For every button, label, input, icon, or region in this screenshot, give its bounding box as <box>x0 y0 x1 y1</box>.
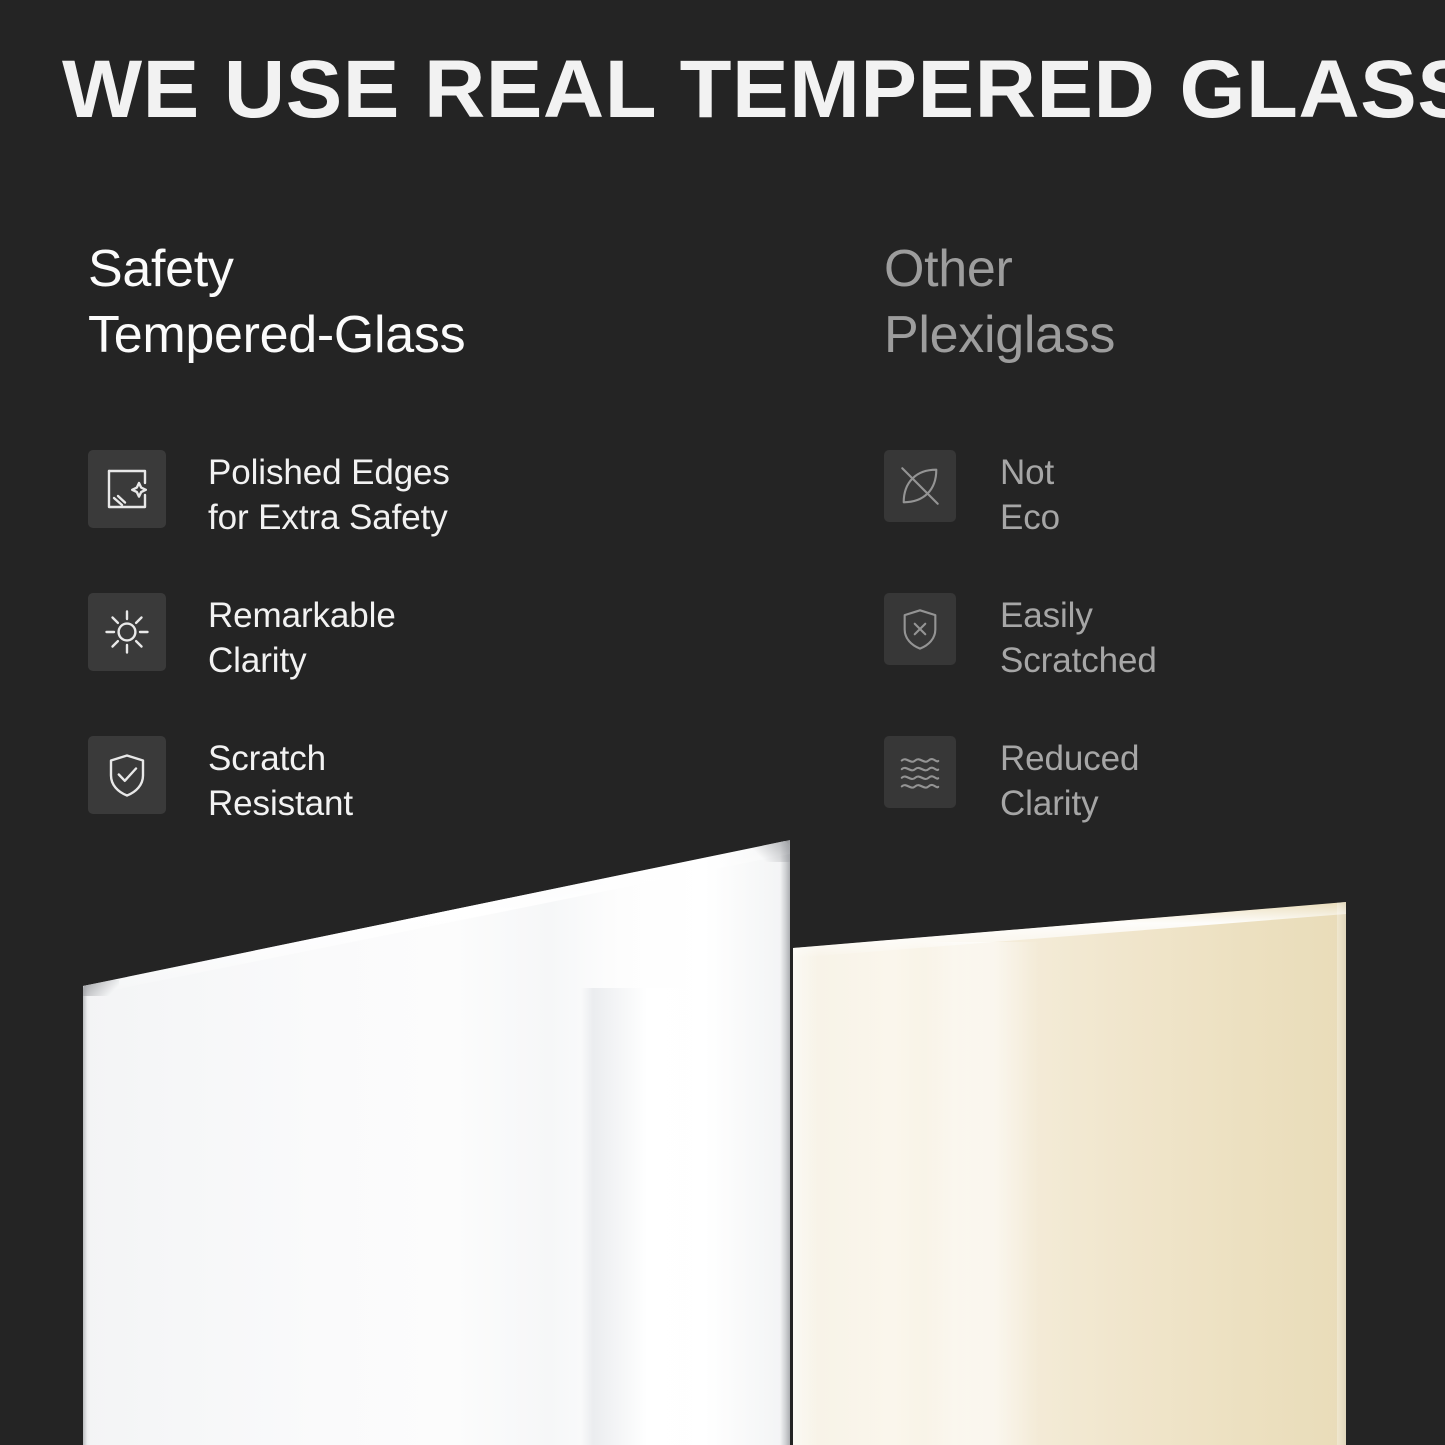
comparison-column-plexiglass: Other Plexiglass Not Eco <box>884 236 1424 368</box>
tempered-glass-reflection <box>581 988 701 1445</box>
feature-row-remarkable-clarity: Remarkable Clarity <box>88 591 788 734</box>
tempered-glass-top-right-corner <box>750 840 790 862</box>
column-title-plexiglass: Other Plexiglass <box>884 236 1424 368</box>
tempered-glass-top-left-corner <box>83 980 119 996</box>
feature-label-reduced-clarity: Reduced Clarity <box>1000 736 1139 826</box>
feature-list-tempered-glass: Polished Edges for Extra Safety Remarkab… <box>88 448 788 877</box>
tempered-glass-left-bevel <box>83 840 90 1445</box>
product-photo-glass-panels <box>0 840 1445 1445</box>
feature-row-easily-scratched: Easily Scratched <box>884 591 1424 734</box>
plexiglass-top-edge-highlight <box>793 902 1346 958</box>
plexiglass-right-edge <box>1337 902 1346 1445</box>
sun-brightness-icon <box>88 593 166 671</box>
feature-label-easily-scratched: Easily Scratched <box>1000 593 1157 683</box>
wavy-lines-icon <box>884 736 956 808</box>
feature-label-not-eco: Not Eco <box>1000 450 1060 540</box>
feature-list-plexiglass: Not Eco Easily Scratched <box>884 448 1424 877</box>
feature-label-scratch-resistant: Scratch Resistant <box>208 736 353 826</box>
tempered-glass-right-bevel <box>780 840 790 1445</box>
tempered-glass-top-edge-highlight <box>83 840 790 1000</box>
comparison-column-tempered-glass: Safety Tempered-Glass Polished Edges for… <box>88 236 788 368</box>
shield-check-icon <box>88 736 166 814</box>
feature-label-remarkable-clarity: Remarkable Clarity <box>208 593 396 683</box>
page-title: WE USE REAL TEMPERED GLASS <box>62 44 1439 136</box>
product-comparison-infographic: WE USE REAL TEMPERED GLASS Safety Temper… <box>0 0 1445 1445</box>
feature-label-polished-edges: Polished Edges for Extra Safety <box>208 450 450 540</box>
feature-row-not-eco: Not Eco <box>884 448 1424 591</box>
polished-glass-sparkle-icon <box>88 450 166 528</box>
shield-x-icon <box>884 593 956 665</box>
feature-row-polished-edges: Polished Edges for Extra Safety <box>88 448 788 591</box>
plexiglass-reflection <box>921 942 1039 1445</box>
leaf-slash-icon <box>884 450 956 522</box>
plexiglass-panel <box>793 902 1346 1445</box>
tempered-glass-panel <box>83 840 790 1445</box>
column-title-tempered-glass: Safety Tempered-Glass <box>88 236 788 368</box>
